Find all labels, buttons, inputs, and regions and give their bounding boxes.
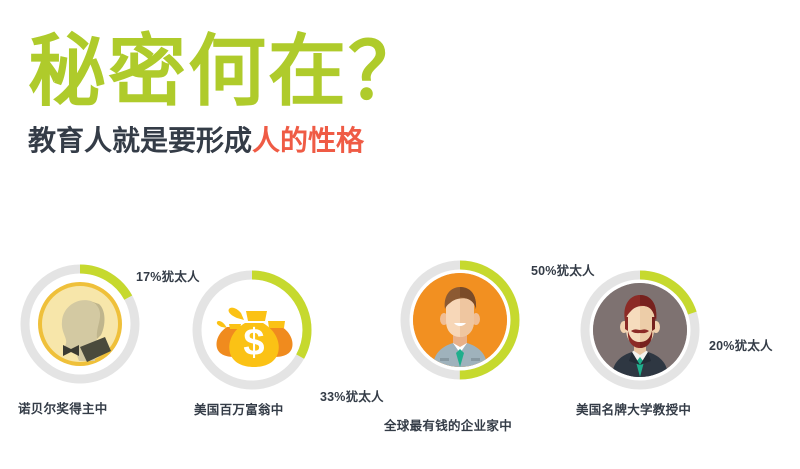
stat-caption-entrepreneurs: 全球最有钱的企业家中: [384, 415, 512, 434]
stat-item-entrepreneurs: 50%犹太人 全球最有钱的企业家中: [398, 258, 588, 382]
stat-caption-professors: 美国名牌大学教授中: [576, 399, 691, 418]
page-subtitle: 教育人就是要形成人的性格: [28, 124, 768, 158]
stat-item-nobel: 17%犹太人 诺贝尔奖得主中: [18, 262, 208, 386]
stat-caption-millionaires: 美国百万富翁中: [194, 399, 284, 418]
stat-value-label-millionaires: 33%犹太人: [320, 386, 384, 405]
donut-chart-professors: [578, 268, 702, 392]
stat-value-label-professors: 20%犹太人: [709, 335, 773, 354]
stat-item-professors: 20%犹太人 美国名牌大学教授中: [578, 268, 768, 392]
subtitle-plain-text: 教育人就是要形成: [28, 125, 252, 156]
subtitle-accent-text: 人的性格: [252, 125, 364, 156]
businessman-svg: [413, 273, 507, 367]
donut-chart-millionaires: $: [190, 268, 314, 392]
professor-svg: [593, 283, 687, 377]
professor-avatar-icon: [593, 283, 687, 377]
page-title: 秘密何在？: [28, 30, 768, 112]
nobel-medal-icon: [33, 277, 127, 371]
stat-item-millionaires: $ 33%犹太人 美国百万富翁中: [190, 268, 380, 392]
donut-chart-nobel: [18, 262, 142, 386]
nobel-medal-svg: [33, 277, 127, 371]
donut-chart-entrepreneurs: [398, 258, 522, 382]
dollar-glyph: $: [243, 322, 264, 364]
money-bags-svg: $: [205, 283, 299, 377]
stat-caption-nobel: 诺贝尔奖得主中: [18, 398, 108, 417]
money-bags-icon: $: [205, 283, 299, 377]
businessman-avatar-icon: [413, 273, 507, 367]
heading-block: 秘密何在？ 教育人就是要形成人的性格: [28, 30, 768, 158]
infographic-row: 17%犹太人 诺贝尔奖得主中: [0, 248, 800, 458]
